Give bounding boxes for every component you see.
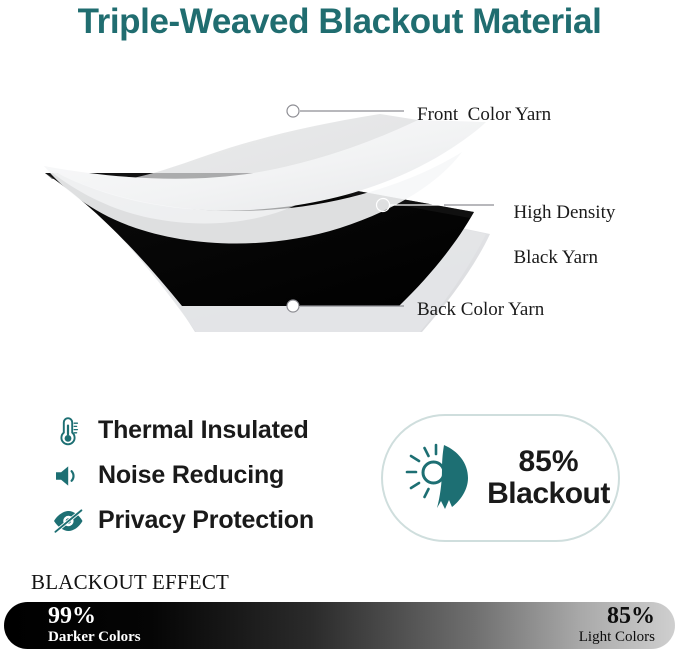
callout-label-back: Back Color Yarn: [417, 299, 544, 321]
sun-blocked-by-curtain-icon: [399, 436, 485, 520]
blackout-badge: 85% Blackout: [381, 414, 620, 542]
blackout-effect-left-stat: 99% Darker Colors: [48, 604, 141, 645]
left-percent: 99%: [48, 604, 141, 628]
left-label: Darker Colors: [48, 630, 141, 645]
callout-high-line1: High Density: [514, 202, 616, 223]
speaker-sound-icon: [48, 457, 88, 495]
feature-item-privacy-protection: Privacy Protection: [48, 498, 368, 543]
right-label: Light Colors: [579, 630, 655, 645]
feature-item-thermal-insulated: Thermal Insulated: [48, 408, 368, 453]
page-title: Triple-Weaved Blackout Material: [0, 2, 679, 42]
eye-slash-icon: [48, 502, 88, 540]
blackout-badge-text: 85% Blackout: [485, 446, 612, 510]
feature-item-noise-reducing: Noise Reducing: [48, 453, 368, 498]
thermometer-icon: [48, 412, 88, 450]
blackout-effect-title: BLACKOUT EFFECT: [31, 570, 229, 595]
feature-list: Thermal Insulated Noise Reducing Privacy…: [48, 408, 368, 543]
feature-label-thermal-insulated: Thermal Insulated: [98, 416, 309, 445]
callout-label-front: Front Color Yarn: [417, 104, 551, 126]
right-percent: 85%: [579, 604, 655, 628]
callout-high-line2: Black Yarn: [514, 247, 598, 268]
blackout-label: Blackout: [485, 478, 612, 510]
blackout-percent: 85%: [485, 446, 612, 478]
callout-label-high-density: High Density Black Yarn: [504, 180, 615, 270]
blackout-effect-right-stat: 85% Light Colors: [579, 604, 655, 645]
feature-label-privacy-protection: Privacy Protection: [98, 506, 314, 535]
feature-label-noise-reducing: Noise Reducing: [98, 461, 284, 490]
